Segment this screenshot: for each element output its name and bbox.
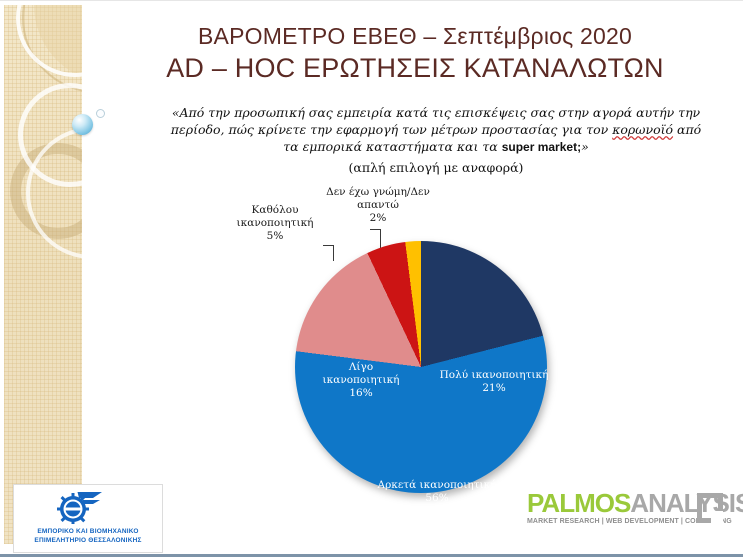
slide-title-line-1: ΒΑΡΟΜΕΤΡΟ ΕΒΕΘ – Σεπτέμβριος 2020 [95,21,735,51]
slice-label-arketa-value: 56% [347,492,527,505]
callout-katholou-name-2: ικανοποιητική [223,217,327,230]
callout-label-den-gnomi: Δεν έχω γνώμη/Δεν απαντώ 2% [315,186,441,225]
palmos-tagline: MARKET RESEARCH | WEB DEVELOPMENT | CONS… [527,517,723,526]
question-line-1: «Από την προσωπική σας εμπειρία κατά τις… [140,104,732,121]
ebeth-gear-wing-icon [54,490,104,524]
ebeth-logo-text-line-2: ΕΠΙΜΕΛΗΤΗΡΙΟ ΘΕΣΣΑΛΟΝΙΚΗΣ [14,536,162,545]
palmos-analysis-logo: PALMOSANALYSIS MARKET RESEARCH | WEB DEV… [527,490,723,530]
slide-canvas: ΒΑΡΟΜΕΤΡΟ ΕΒΕΘ – Σεπτέμβριος 2020 AD – H… [0,0,743,557]
slice-label-ligo-name-1: Λίγο [315,361,407,374]
question-note: (απλή επιλογή με αναφορά) [140,159,732,176]
slice-label-poly-ikanopoiitiki: Πολύ ικανοποιητική 21% [435,369,553,395]
pie-chart-graphic: Πολύ ικανοποιητική 21% Αρκετά ικανοποιητ… [295,241,547,493]
callout-dengnomi-name-1: Δεν έχω γνώμη/Δεν [315,186,441,199]
question-line-2-part-b: από [673,122,701,137]
ebeth-logo-text: ΕΜΠΟΡΙΚΟ ΚΑΙ ΒΙΟΜΗΧΑΝΙΚΟ ΕΠΙΜΕΛΗΤΗΡΙΟ ΘΕ… [14,527,162,545]
decorative-circle-outline [16,5,82,77]
callout-katholou-name-1: Καθόλου [223,204,327,217]
decorative-side-panel [4,5,82,544]
callout-dengnomi-value: 2% [315,212,441,225]
palmos-square-glyph-icon [697,493,723,523]
pie-chart: Καθόλου ικανοποιητική 5% Δεν έχω γνώμη/Δ… [195,186,695,486]
slice-label-arketa-name: Αρκετά ικανοποιητική [347,479,527,492]
slice-label-ligo-ikanopoiitiki: Λίγο ικανοποιητική 16% [315,361,407,400]
question-line-3-part-a: τα εμπορικά καταστήματα και τα [283,139,501,154]
ebeth-logo-text-line-1: ΕΜΠΟΡΙΚΟ ΚΑΙ ΒΙΟΜΗΧΑΝΙΚΟ [14,527,162,536]
palmos-word-primary: PALMOS [527,488,630,518]
decorative-blue-sphere-icon [72,114,93,135]
question-line-3: τα εμπορικά καταστήματα και τα super mar… [140,138,732,156]
slide-title-line-2: AD – HOC ΕΡΩΤΗΣΕΙΣ ΚΑΤΑΝΑΛΩΤΩΝ [95,51,735,85]
slice-label-ligo-name-2: ικανοποιητική [315,374,407,387]
slice-label-poly-value: 21% [435,382,553,395]
question-line-3-part-b: » [581,139,589,154]
callout-dengnomi-name-2: απαντώ [315,199,441,212]
slice-label-poly-name: Πολύ ικανοποιητική [435,369,553,382]
callout-label-katholou: Καθόλου ικανοποιητική 5% [223,204,327,243]
leader-line-dengnomi-horizontal [370,229,380,230]
question-line-2-part-a: περίοδο, πώς κρίνετε την εφαρμογή των μέ… [171,122,612,137]
question-keyword-supermarket: super market; [502,140,581,154]
ebeth-logo: ΕΜΠΟΡΙΚΟ ΚΑΙ ΒΙΟΜΗΧΑΝΙΚΟ ΕΠΙΜΕΛΗΤΗΡΙΟ ΘΕ… [13,484,163,553]
slice-label-arketa-ikanopoiitiki: Αρκετά ικανοποιητική 56% [347,479,527,505]
slice-label-ligo-value: 16% [315,387,407,400]
survey-question-text: «Από την προσωπική σας εμπειρία κατά τις… [140,104,732,176]
palmos-word-secondary: ANALYSIS [630,488,743,518]
question-line-2: περίοδο, πώς κρίνετε την εφαρμογή των μέ… [140,121,732,138]
decorative-small-circle-icon [96,109,105,118]
slide-title-block: ΒΑΡΟΜΕΤΡΟ ΕΒΕΘ – Σεπτέμβριος 2020 AD – H… [95,21,735,85]
question-keyword-coronavirus: κορωνοϊό [612,122,673,137]
palmos-wordmark: PALMOSANALYSIS [527,490,723,517]
